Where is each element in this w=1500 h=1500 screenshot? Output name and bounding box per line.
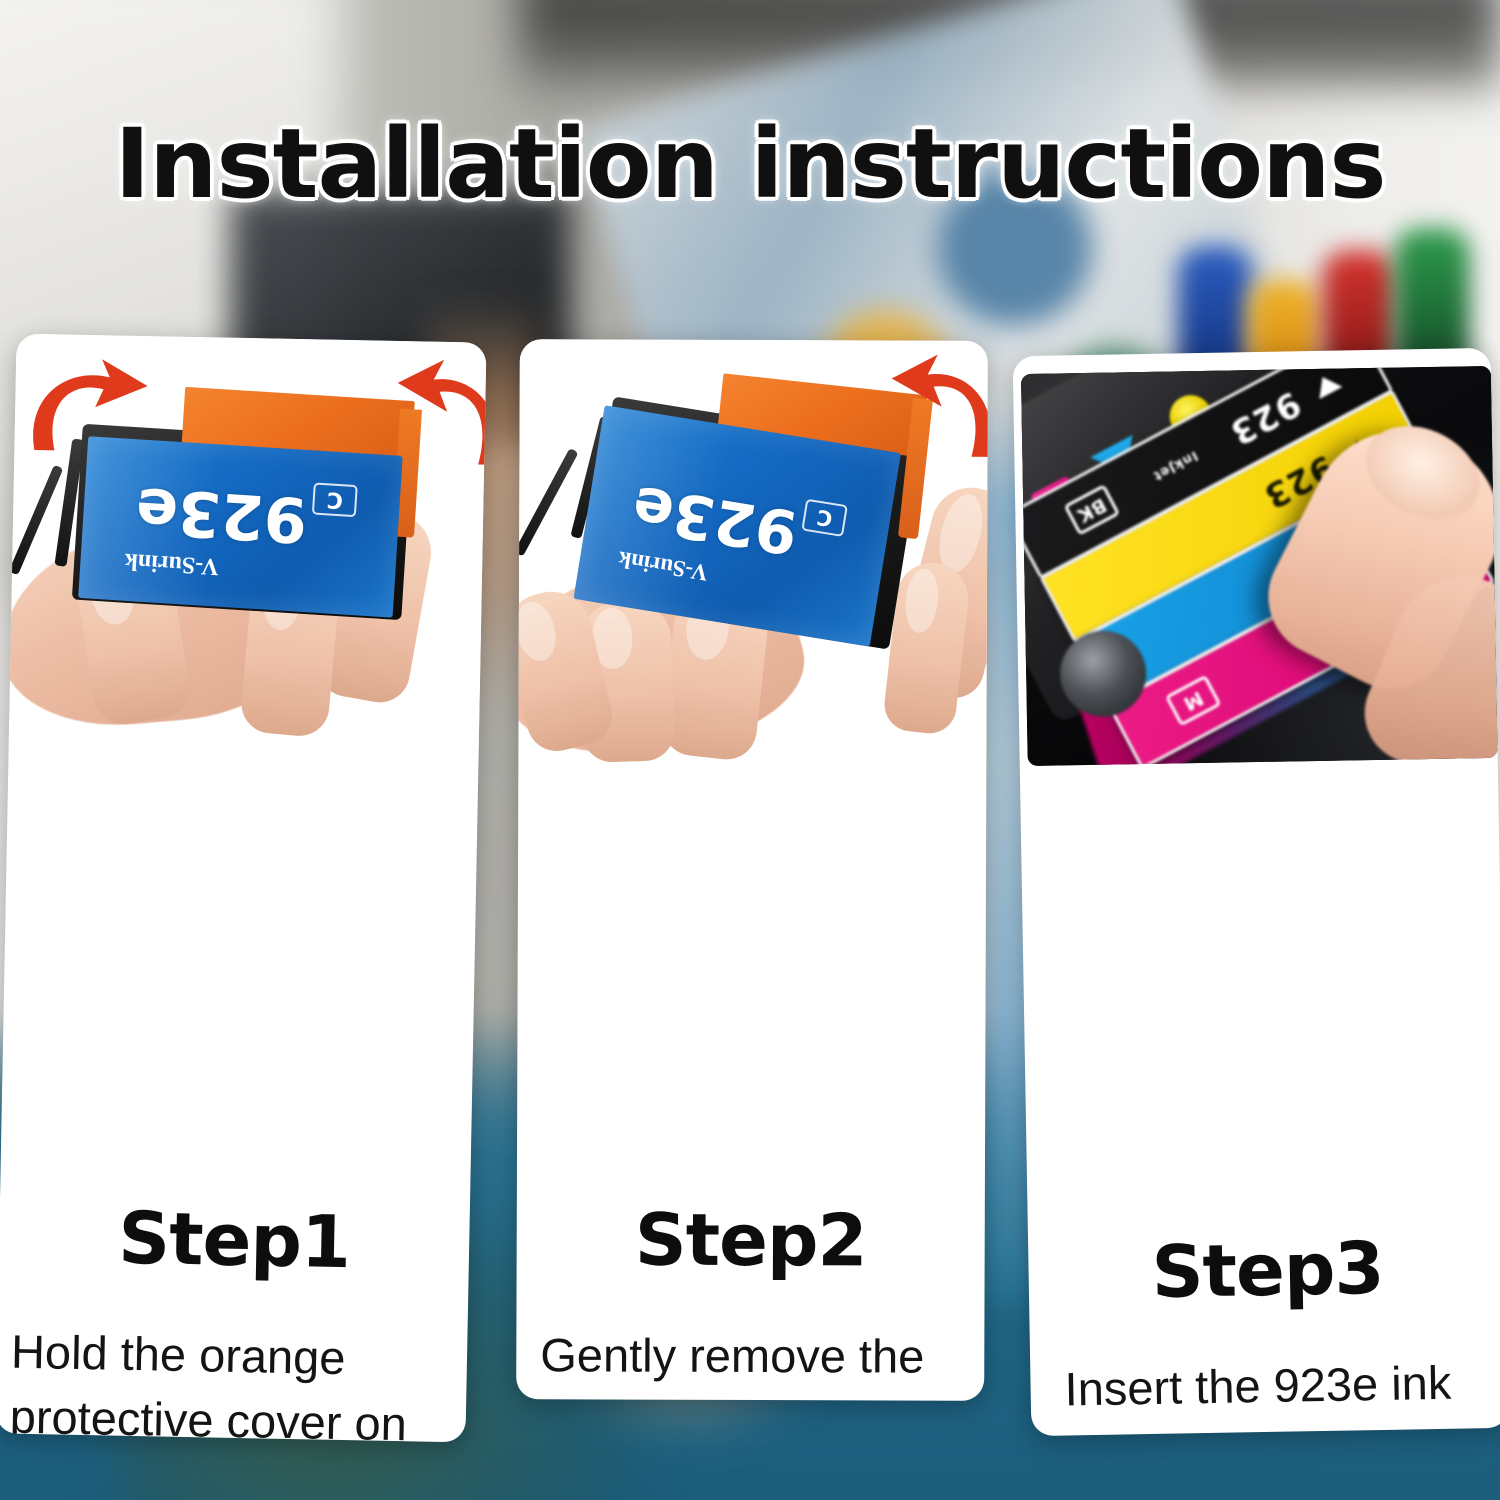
cartridge-color-badge: C xyxy=(801,499,848,537)
cartridge-clip-left-2 xyxy=(516,448,578,557)
step-1-title: Step1 xyxy=(0,1193,470,1286)
cartridge-scene-2: 923e V-Surink C xyxy=(518,339,987,761)
cartridge-ink-name-black: InkJet xyxy=(1150,447,1200,483)
step-card-3: InkJet 923 BK 923 923 xyxy=(1013,348,1500,1436)
step-3-title: Step3 xyxy=(1028,1224,1500,1316)
cartridge-badge-black: BK xyxy=(1064,484,1121,536)
step-2-body: Gently remove the orange protective cove… xyxy=(540,1323,963,1401)
cartridge-badge-magenta: M xyxy=(1165,675,1222,727)
step-card-2: 923e V-Surink C Step2 Gently remove the … xyxy=(516,339,988,1401)
arrow-right-curved-icon xyxy=(394,355,487,477)
photo-content: InkJet 923 BK 923 923 xyxy=(1021,366,1498,766)
cartridge-model-text: 923e xyxy=(134,473,310,557)
step-card-1: 923e V-Surink C Step1 Hold the orange pr… xyxy=(0,334,487,1443)
cartridge-color-badge: C xyxy=(312,482,358,517)
arrow-left-curved-icon xyxy=(20,354,152,466)
page-title: Installation instructions xyxy=(0,108,1500,220)
printer-bay-photo: InkJet 923 BK 923 923 xyxy=(1021,366,1498,766)
step-2-illustration: 923e V-Surink C xyxy=(518,339,987,761)
instruction-poster: Installation instructions xyxy=(0,0,1500,1500)
step-3-illustration: InkJet 923 BK 923 923 xyxy=(1013,348,1498,780)
step-1-illustration: 923e V-Surink C xyxy=(9,334,487,763)
step-3-body: Insert the 923e ink cartridges into the … xyxy=(1064,1350,1495,1436)
step-2-title: Step2 xyxy=(517,1197,985,1283)
cartridge-scene-1: 923e V-Surink C xyxy=(9,334,487,763)
step-1-body: Hold the orange protective cover on the … xyxy=(7,1320,448,1443)
cartridge-arrow-icon-black xyxy=(1311,371,1342,399)
arrow-right-curved-icon xyxy=(889,350,987,468)
